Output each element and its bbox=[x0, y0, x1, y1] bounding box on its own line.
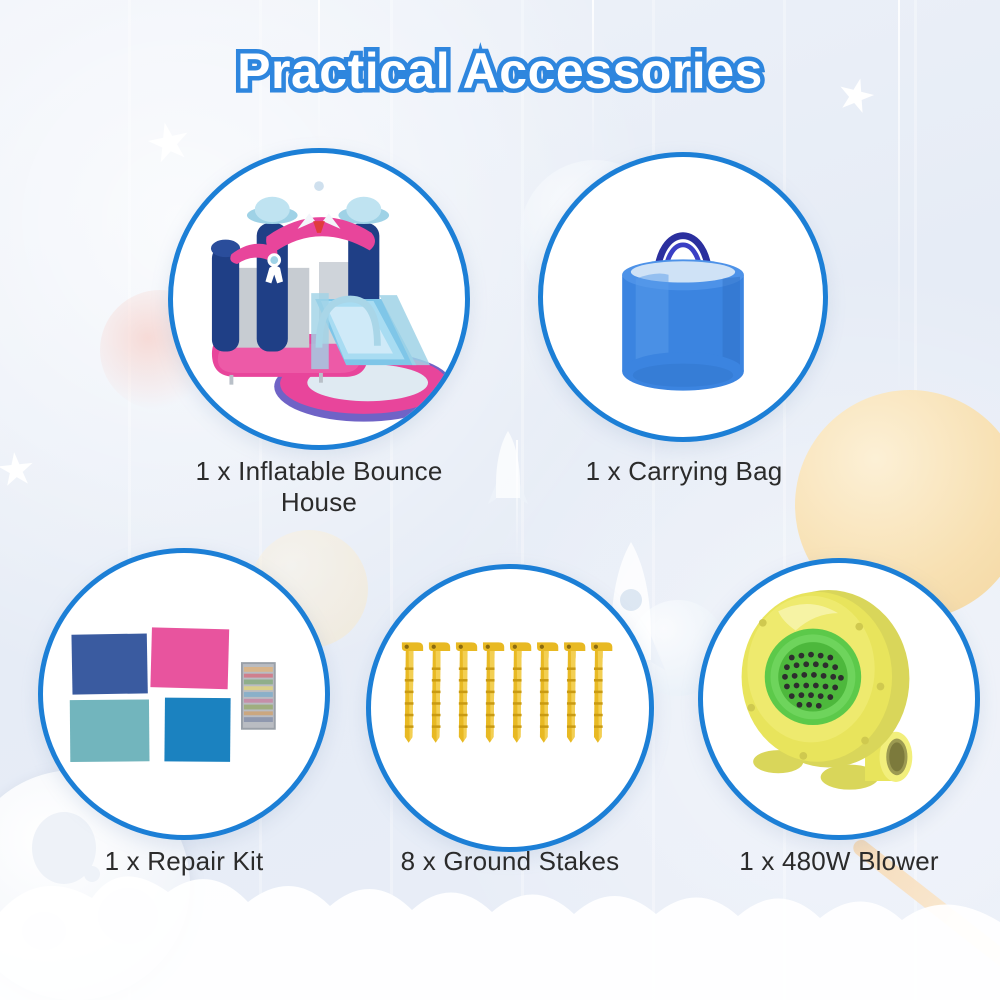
star-mid-left bbox=[0, 450, 36, 490]
product-circle-ground-stakes bbox=[366, 564, 654, 852]
page-title: Practical Accessories bbox=[0, 42, 1000, 100]
product-circle-inflatable-bounce-house bbox=[168, 148, 470, 450]
product-circle-repair-kit bbox=[38, 548, 330, 840]
ground-stakes-image bbox=[371, 569, 649, 847]
caption-repair-kit: 1 x Repair Kit bbox=[38, 846, 330, 877]
rocket-background-upper bbox=[488, 430, 528, 514]
product-circle-blower bbox=[698, 558, 980, 840]
caption-carrying-bag: 1 x Carrying Bag bbox=[538, 456, 830, 487]
carrying-bag-image bbox=[543, 157, 823, 437]
repair-kit-image bbox=[43, 553, 325, 835]
blower-image bbox=[703, 563, 975, 835]
caption-inflatable-bounce-house: 1 x Inflatable Bounce House bbox=[169, 456, 469, 517]
bounce-house-image bbox=[173, 153, 465, 445]
caption-ground-stakes: 8 x Ground Stakes bbox=[366, 846, 654, 877]
infographic-page: Practical Accessories bbox=[0, 0, 1000, 1000]
caption-blower: 1 x 480W Blower bbox=[698, 846, 980, 877]
product-circle-carrying-bag bbox=[538, 152, 828, 442]
